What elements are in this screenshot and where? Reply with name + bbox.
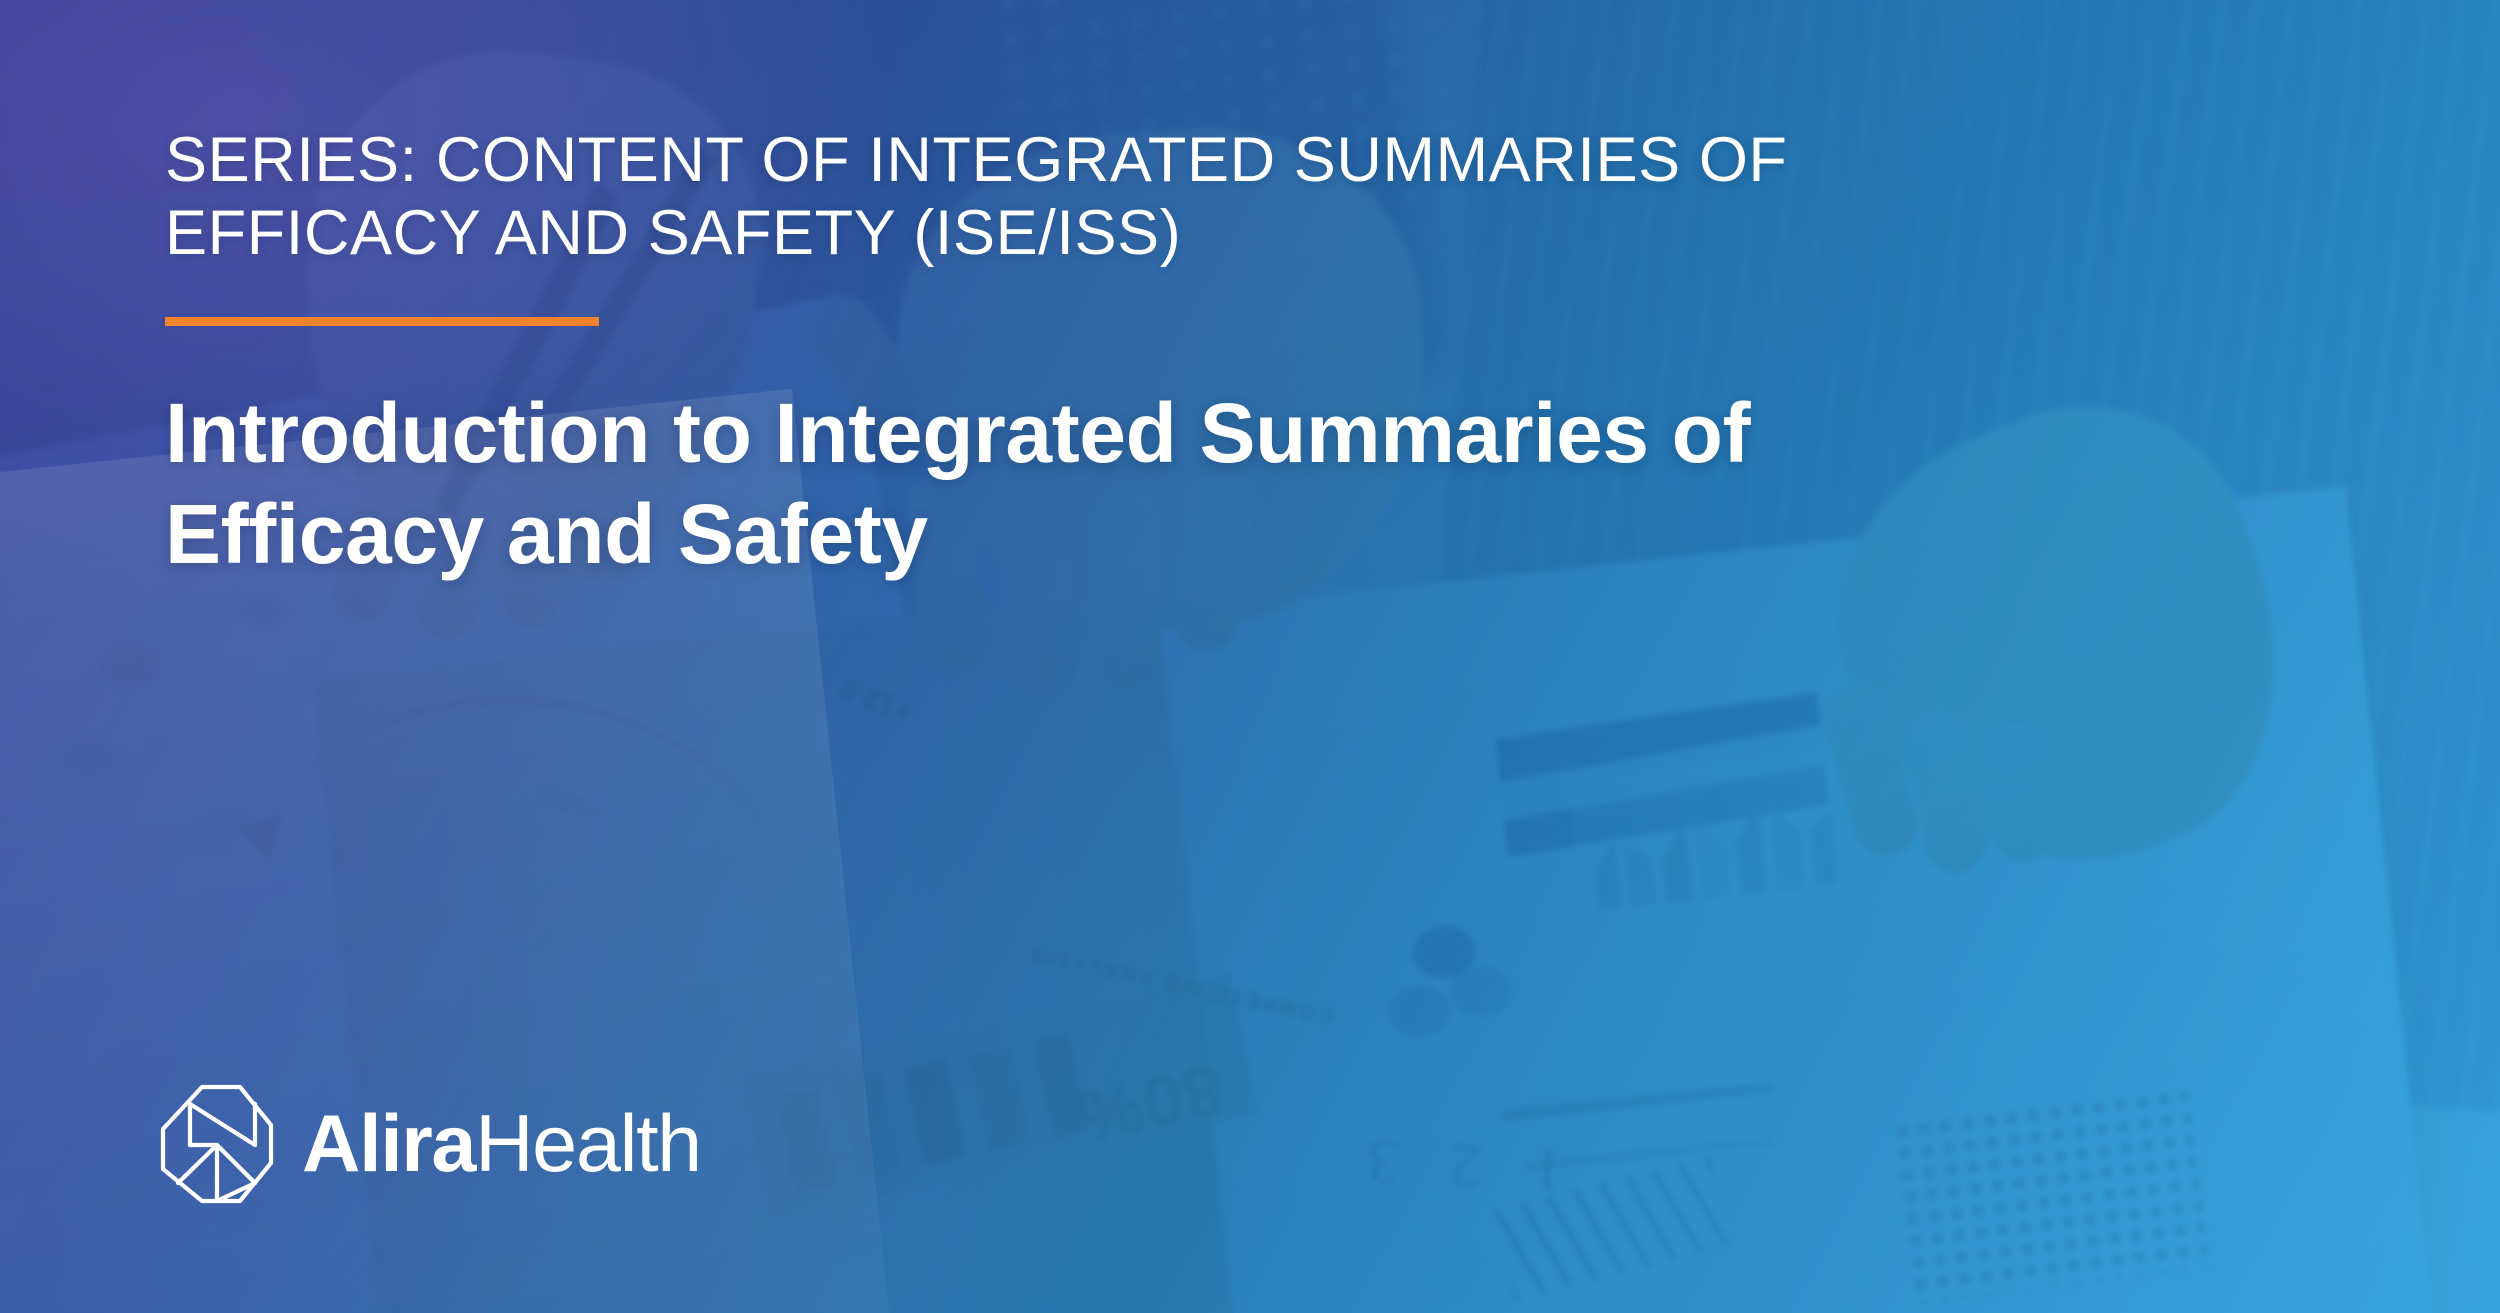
logo-word-alira: Alira bbox=[302, 1099, 475, 1189]
series-title: SERIES: CONTENT OF INTEGRATED SUMMARIES … bbox=[165, 124, 1985, 270]
page-title: Introduction to Integrated Summaries of … bbox=[165, 383, 1785, 585]
banner-content: SERIES: CONTENT OF INTEGRATED SUMMARIES … bbox=[165, 124, 2065, 585]
logo-wordmark: AliraHealth bbox=[302, 1104, 701, 1185]
alira-health-logo[interactable]: AliraHealth bbox=[158, 1083, 701, 1205]
logo-word-health: Health bbox=[475, 1099, 701, 1189]
orange-divider bbox=[165, 317, 599, 326]
alira-health-hexagon-mark bbox=[158, 1083, 276, 1205]
hero-banner: 1 2 3 80% COMPETITIVE ANALYSIS +12.0 +12… bbox=[0, 0, 2500, 1313]
